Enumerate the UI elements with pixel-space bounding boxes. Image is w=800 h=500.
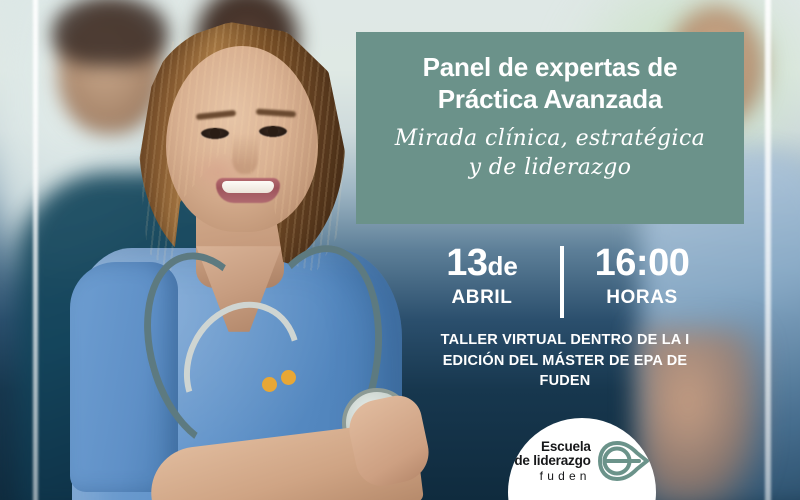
heading-line-2: Práctica Avanzada [356,84,744,116]
nurse-nose [232,134,258,174]
event-date: 13de ABRIL [404,244,560,322]
event-time: 16:00 HORAS [564,244,720,322]
nurse-pupil-right [268,126,278,136]
logo-word-de-liderazgo: de liderazgo [514,454,590,468]
date-preposition: de [487,251,517,281]
logo-lockup: Escuela de liderazgo fuden [508,440,656,482]
logo-word-escuela: Escuela [514,440,590,454]
heading-line-1: Panel de expertas de [356,52,744,84]
fuden-leaf-icon [598,440,650,482]
title-panel: Panel de expertas de Práctica Avanzada M… [356,32,744,224]
stethoscope-eartip-a [262,377,277,392]
date-line: 13de [404,244,560,282]
event-poster: Panel de expertas de Práctica Avanzada M… [0,0,800,500]
date-number: 13 [446,242,487,284]
time-value: 16:00 [564,244,720,282]
logo-word-fuden: fuden [514,470,590,483]
detail-line-2: EDICIÓN DEL MÁSTER DE EPA DE [430,351,700,372]
detail-line-1: TALLER VIRTUAL DENTRO DE LA I [430,330,700,351]
title-text-block: Panel de expertas de Práctica Avanzada M… [356,52,744,183]
time-label: HORAS [564,287,720,309]
subtitle-line-2: y de liderazgo [356,154,744,183]
nurse-teeth [222,181,274,193]
date-month: ABRIL [404,287,560,309]
detail-line-3: FUDEN [430,371,700,392]
nurse-pupil-left [210,128,220,138]
window-mullion-right [765,0,771,500]
subtitle-line-1: Mirada clínica, estratégica [356,125,744,154]
stethoscope-eartip-b [281,370,296,385]
event-details: TALLER VIRTUAL DENTRO DE LA I EDICIÓN DE… [430,330,700,392]
event-datetime: 13de ABRIL 16:00 HORAS [404,244,720,322]
logo-wordmark: Escuela de liderazgo fuden [514,440,590,482]
